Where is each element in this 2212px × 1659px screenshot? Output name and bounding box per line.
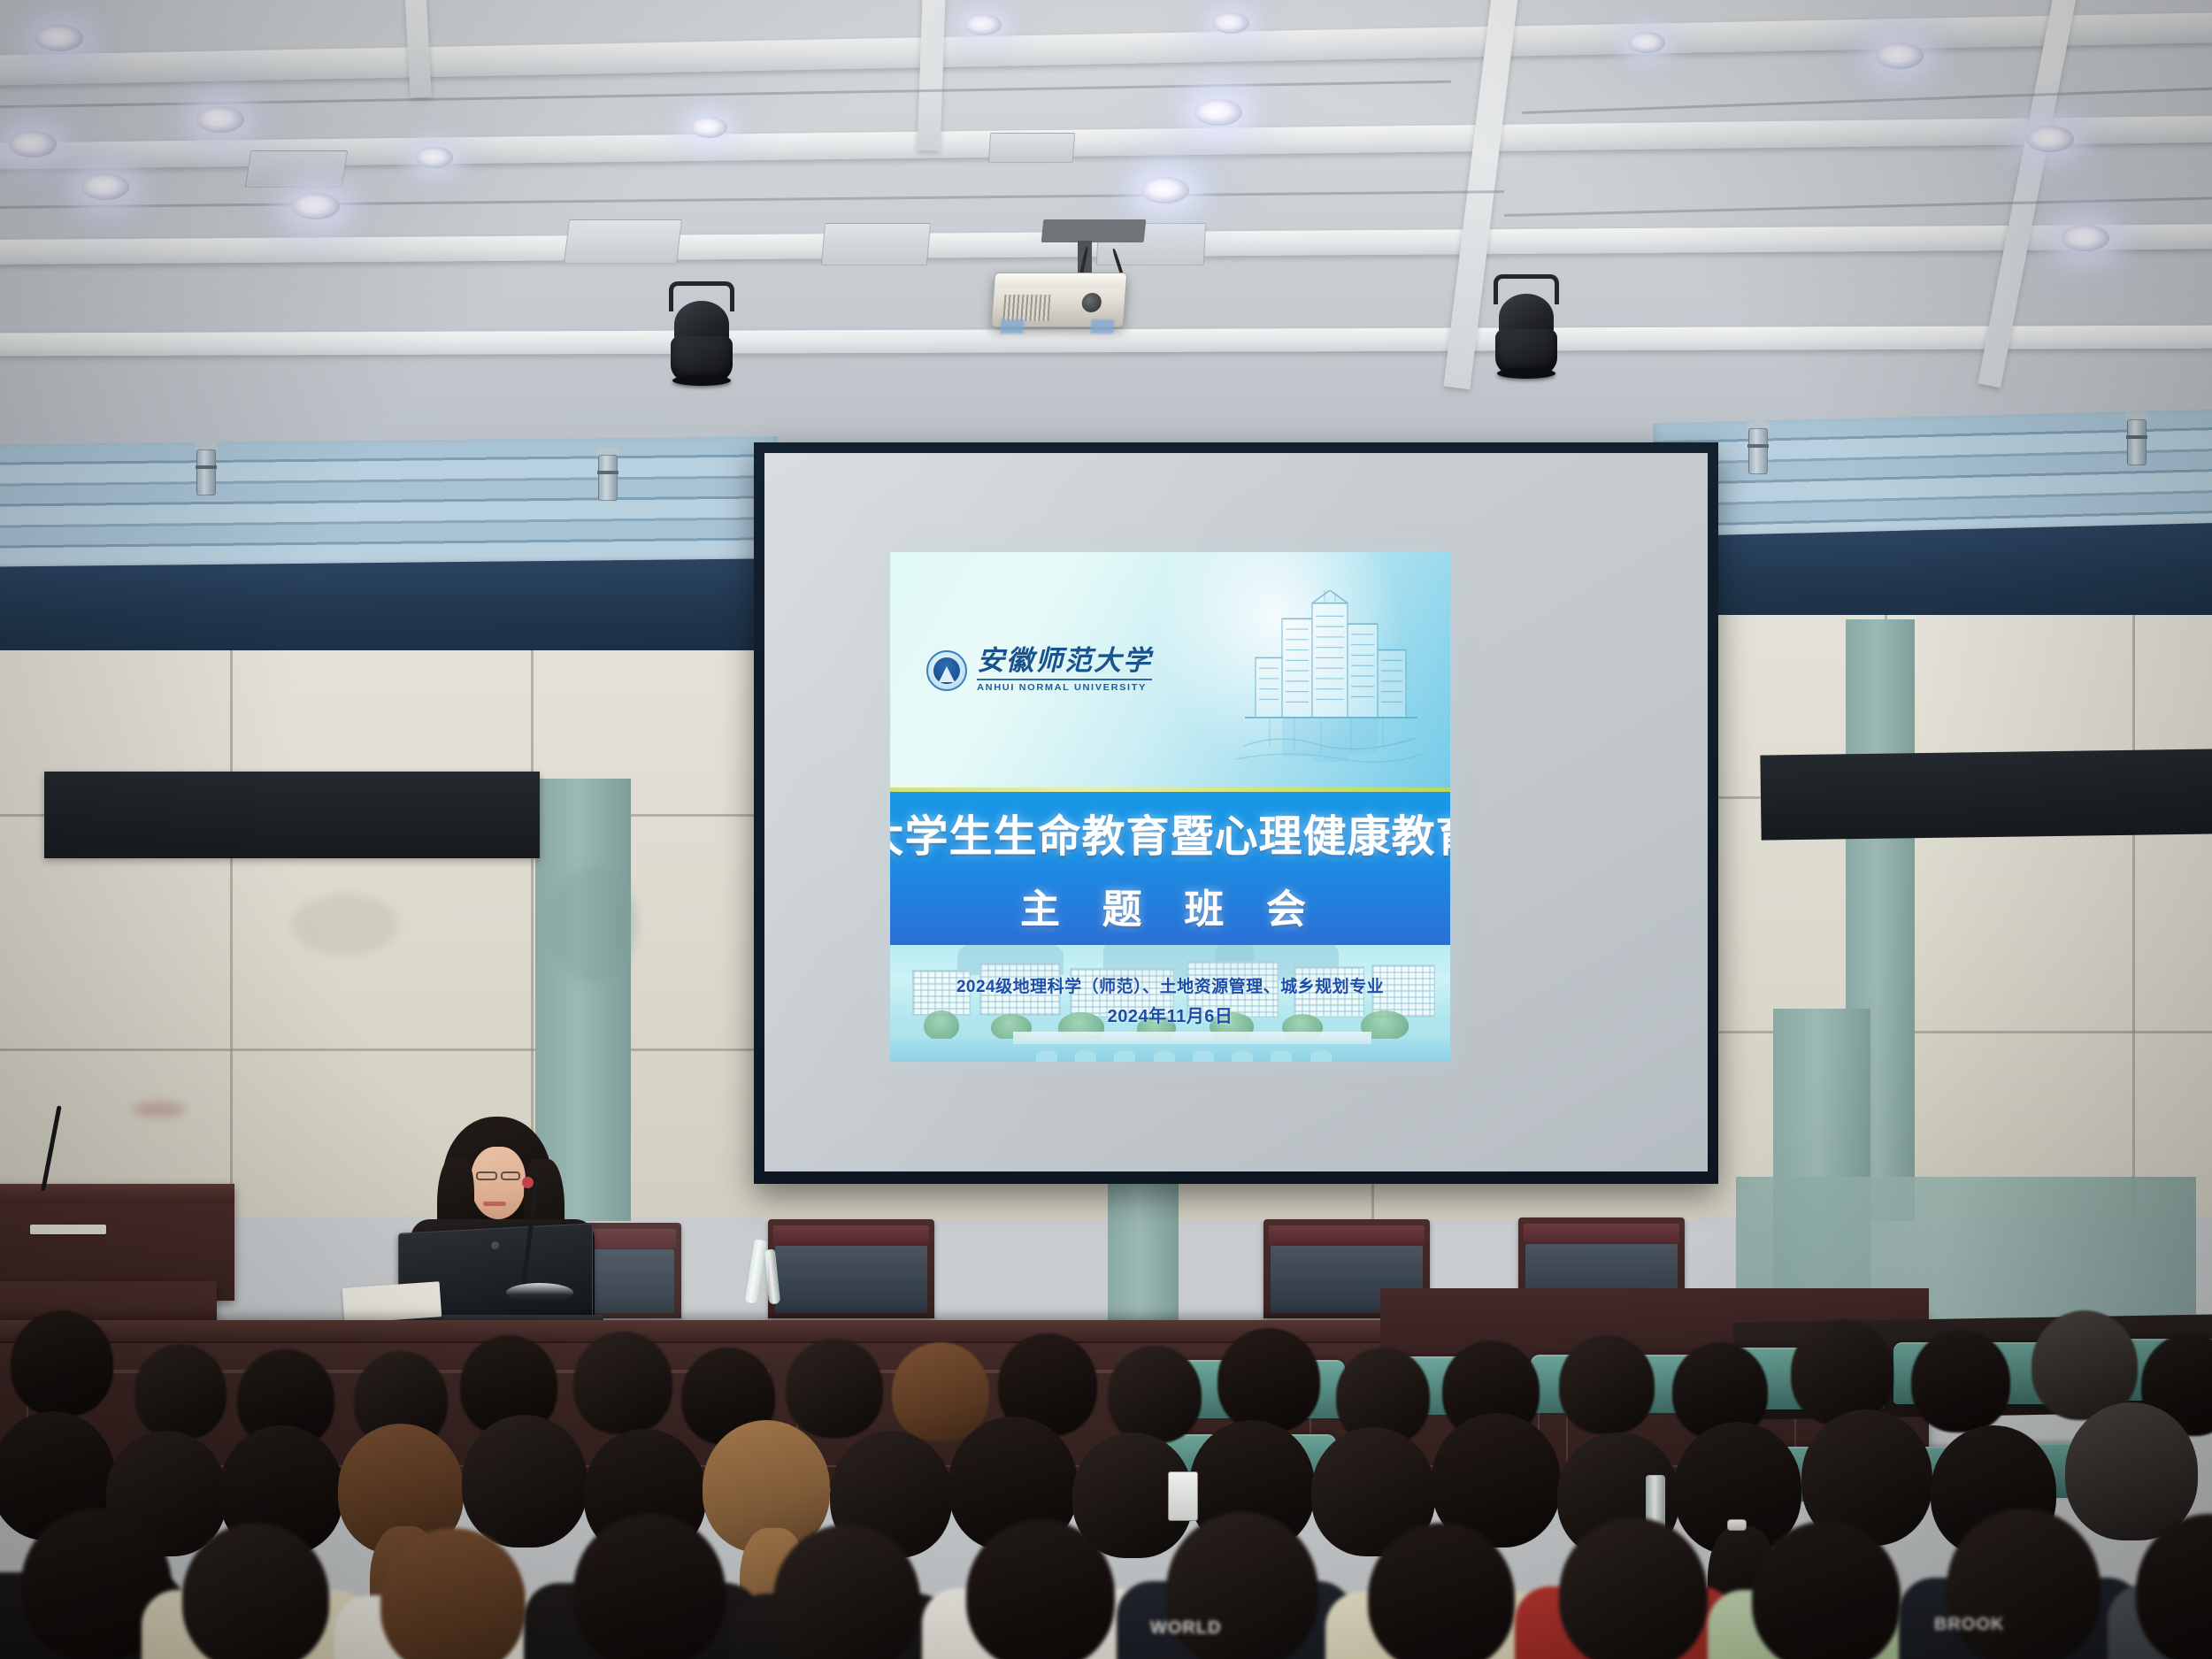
stage-spotlight-right (1486, 274, 1568, 388)
downlight (1212, 12, 1249, 34)
wall-lower-right (1663, 615, 2212, 1217)
audience-head (462, 1415, 588, 1548)
ceiling (0, 0, 2212, 469)
wall-seam (2132, 615, 2135, 1217)
acoustic-panel-right (1760, 749, 2212, 840)
logo-divider (977, 679, 1152, 680)
ceiling-beam (403, 0, 431, 98)
lamp-body (598, 455, 618, 501)
downlight (35, 25, 83, 51)
audience-head (2065, 1402, 2198, 1540)
lamp-body (196, 449, 216, 495)
university-logo: 安徽师范大学 ANHUI NORMAL UNIVERSITY (926, 648, 1152, 693)
presenter-eyeglasses (501, 1171, 520, 1180)
slide-header: 安徽师范大学 ANHUI NORMAL UNIVERSITY (890, 552, 1450, 792)
slide-date: 2024年11月6日 (890, 1002, 1450, 1027)
downlight (964, 14, 1002, 35)
spotlight-ring (1497, 368, 1555, 379)
presenter-mouth (483, 1202, 506, 1206)
downlight (2062, 225, 2109, 251)
presentation-slide: 安徽师范大学 ANHUI NORMAL UNIVERSITY 大学生生命教育暨心… (890, 552, 1450, 1062)
wall-mark (292, 894, 398, 956)
wall-seam (1663, 1031, 2212, 1033)
wall-mark (549, 867, 637, 982)
audience-head (1911, 1330, 2010, 1432)
audience-head (1947, 1509, 2101, 1659)
downlight (416, 147, 453, 168)
audience-head (1108, 1346, 1202, 1443)
lamp-band (1747, 444, 1769, 448)
audience-head (182, 1523, 329, 1659)
lecture-hall-scene: 安徽师范大学 ANHUI NORMAL UNIVERSITY 大学生生命教育暨心… (0, 0, 2212, 1659)
audience-head (966, 1519, 1115, 1659)
bridge-arch (1271, 1050, 1292, 1062)
audience-head (134, 1344, 227, 1440)
chair-headrest (773, 1225, 929, 1245)
audience-head (1368, 1523, 1515, 1659)
audience-head (786, 1339, 883, 1438)
audience-head (1559, 1335, 1655, 1434)
university-name-en: ANHUI NORMAL UNIVERSITY (977, 682, 1152, 692)
downlight (1194, 99, 1242, 126)
wall-cylinder-lamp (2124, 412, 2150, 467)
audience-head (380, 1528, 526, 1659)
projector-indicator (1000, 319, 1024, 334)
ceiling-vent (821, 223, 931, 265)
hair-clip (1727, 1519, 1747, 1531)
projector-mount-plate (1041, 219, 1147, 242)
jacket-text-right: BROOK (1934, 1615, 2004, 1635)
downlight (1141, 177, 1189, 204)
audience-head (573, 1514, 726, 1659)
projection-screen-frame: 安徽师范大学 ANHUI NORMAL UNIVERSITY 大学生生命教育暨心… (754, 442, 1718, 1184)
slide-title-line1: 大学生生命教育暨心理健康教育 (890, 802, 1450, 864)
chair-headrest (1524, 1224, 1679, 1243)
bridge-arch (1036, 1050, 1057, 1062)
downlight (196, 106, 244, 133)
wall-navy-band-left (0, 558, 780, 662)
downlight (81, 173, 129, 200)
projector-indicator (1090, 319, 1114, 334)
downlight (2026, 126, 2074, 152)
ceiling-vent (564, 219, 682, 264)
audience-head (1559, 1517, 1708, 1659)
ceiling-beam (918, 0, 947, 150)
slide-title-line2: 主 题 班 会 (1020, 877, 1320, 934)
bridge-arch (1154, 1050, 1175, 1062)
lectern-top (0, 1184, 234, 1203)
lectern-nameplate-slot (30, 1225, 106, 1234)
ceiling-seam (0, 190, 1504, 209)
footer-bridge (1013, 1032, 1371, 1044)
presenter-face (471, 1147, 526, 1219)
wall-cylinder-lamp (193, 442, 219, 497)
ceiling-seam (1504, 196, 2212, 217)
ceiling-projector (991, 273, 1127, 327)
projector-vent (1002, 295, 1050, 321)
bridge-arch (1310, 1050, 1332, 1062)
audience-head (1791, 1319, 1893, 1425)
university-name-block: 安徽师范大学 ANHUI NORMAL UNIVERSITY (977, 648, 1152, 693)
audience-head (892, 1342, 989, 1441)
audience-area: WORLD BROOK (0, 1243, 2212, 1659)
ceiling-seam (1522, 87, 2212, 114)
jacket-text-left: WORLD (1150, 1618, 1222, 1639)
lamp-body (1748, 428, 1768, 474)
projector-lens (1081, 293, 1102, 312)
wall-mark (133, 1102, 186, 1118)
bridge-arch (1075, 1050, 1096, 1062)
wall-slat-band-left (0, 436, 780, 575)
slide-subtitle: 2024级地理科学（师范）、土地资源管理、城乡规划专业 (890, 973, 1450, 997)
stage-spotlight-left (662, 281, 743, 395)
audience-head (11, 1310, 113, 1417)
spotlight-ring (672, 375, 731, 386)
ceiling-vent (988, 133, 1075, 163)
wall-seam (0, 1048, 796, 1051)
wall-cylinder-lamp (595, 448, 621, 503)
downlight (690, 117, 727, 138)
slide-title-band: 大学生生命教育暨心理健康教育 主 题 班 会 (890, 792, 1450, 945)
lamp-band (2126, 435, 2147, 439)
slide-footer: 2024级地理科学（师范）、土地资源管理、城乡规划专业 2024年11月6日 (890, 945, 1450, 1062)
chair-headrest (1269, 1225, 1425, 1245)
wall-cylinder-lamp (1745, 421, 1771, 476)
phone-held-up[interactable] (1168, 1471, 1198, 1521)
lamp-band (196, 465, 217, 469)
audience-head (1217, 1328, 1320, 1432)
projection-screen-surface: 安徽师范大学 ANHUI NORMAL UNIVERSITY 大学生生命教育暨心… (764, 453, 1708, 1171)
audience-head (1752, 1521, 1901, 1659)
lamp-band (597, 471, 618, 474)
bridge-arch (1193, 1050, 1214, 1062)
lamp-body (2127, 419, 2147, 465)
bridge-arch (1232, 1050, 1253, 1062)
campus-building-illustration (1236, 590, 1422, 772)
downlight (1628, 32, 1665, 53)
downlight (1876, 42, 1924, 69)
audience-head (573, 1332, 672, 1434)
downlight (9, 131, 57, 157)
projector-top-shell (995, 273, 1126, 288)
microphone-indicator (522, 1177, 534, 1188)
acoustic-panel-left (44, 772, 540, 858)
university-name-cn: 安徽师范大学 (977, 648, 1152, 676)
downlight (292, 193, 340, 219)
university-seal-icon (926, 650, 967, 691)
bridge-arch (1114, 1050, 1135, 1062)
wall-seam (230, 650, 233, 1217)
presenter-eyeglasses (476, 1171, 497, 1180)
ceiling-vent (245, 150, 349, 188)
